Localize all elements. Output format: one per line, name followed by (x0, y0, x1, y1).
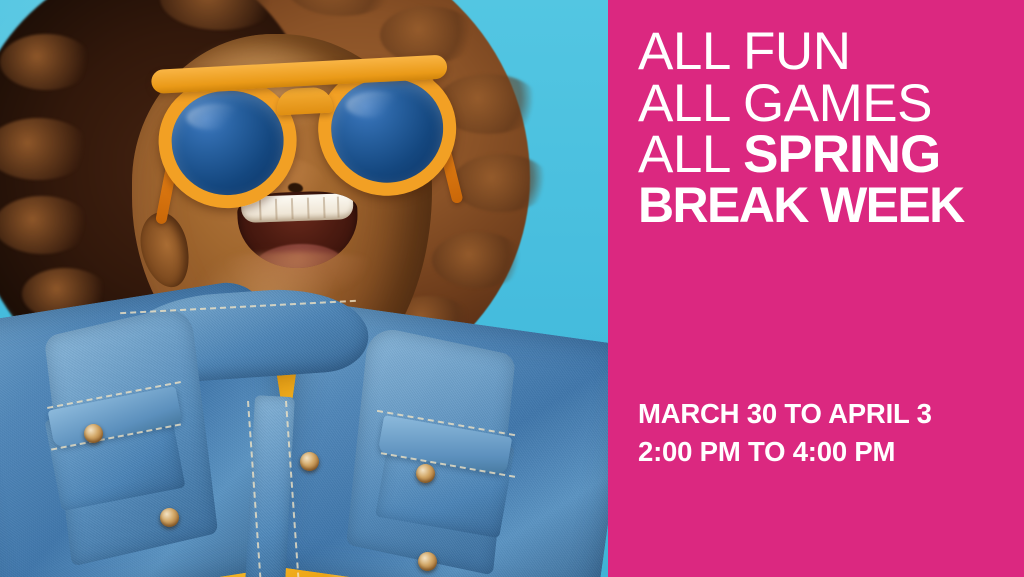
headline-line-4: BREAK WEEK (638, 181, 1010, 230)
headline-line-3-bold: SPRING (743, 125, 940, 184)
lens-reflection (345, 90, 402, 119)
photo-pane (0, 0, 608, 577)
headline-line-3-light: ALL (638, 125, 743, 184)
headline-line-2: ALL GAMES (638, 78, 1010, 130)
lens-reflection (186, 102, 243, 131)
denim-button (300, 452, 319, 471)
event-dates: MARCH 30 TO APRIL 3 (638, 395, 1018, 433)
hair-curl-strand (0, 34, 92, 90)
event-times: 2:00 PM TO 4:00 PM (638, 433, 1018, 471)
text-panel: ALL FUN ALL GAMES ALL SPRING BREAK WEEK … (608, 0, 1024, 577)
event-details-block: MARCH 30 TO APRIL 3 2:00 PM TO 4:00 PM (638, 395, 1018, 471)
hair-curl-strand (432, 232, 524, 288)
orange-round-sunglasses (146, 44, 463, 210)
spring-break-promo-poster: ALL FUN ALL GAMES ALL SPRING BREAK WEEK … (0, 0, 1024, 577)
denim-button (418, 552, 437, 571)
denim-button (84, 424, 103, 443)
headline-line-3: ALL SPRING (638, 129, 1010, 181)
headline-block: ALL FUN ALL GAMES ALL SPRING BREAK WEEK (638, 26, 1010, 230)
hair-curl-strand (452, 154, 550, 212)
sunglasses-bridge (276, 87, 333, 116)
denim-button (416, 464, 435, 483)
sunglasses-lens-left (155, 75, 300, 212)
denim-button (160, 508, 179, 527)
headline-line-1: ALL FUN (638, 26, 1010, 78)
